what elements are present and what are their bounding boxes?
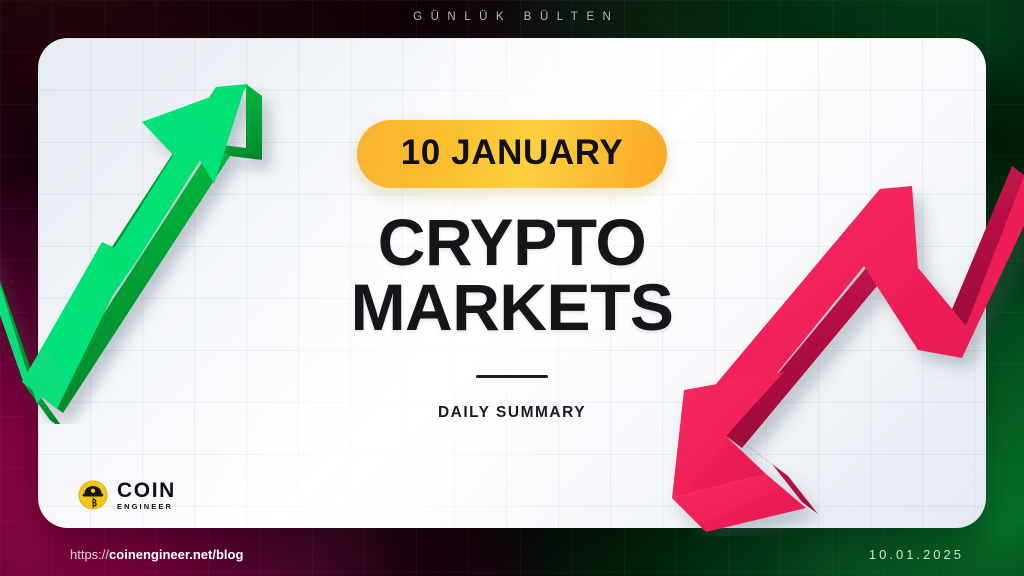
- brand-name-primary: COIN: [117, 480, 176, 501]
- coin-engineer-badge-icon: [78, 480, 108, 510]
- brand-wordmark: COIN ENGINEER: [117, 480, 176, 511]
- red-down-trend-arrow-icon: [666, 146, 1024, 536]
- daily-bulletin-poster: GÜNLÜK BÜLTEN: [0, 0, 1024, 576]
- url-scheme: https://: [70, 547, 109, 562]
- eyebrow-label: GÜNLÜK BÜLTEN: [0, 11, 1024, 23]
- green-up-trend-arrow-icon: [0, 64, 292, 424]
- footer-website-url[interactable]: https://coinengineer.net/blog: [70, 547, 243, 562]
- brand-name-secondary: ENGINEER: [117, 503, 176, 511]
- url-host: coinengineer.net/blog: [109, 547, 243, 562]
- footer-date: 10.01.2025: [869, 547, 964, 562]
- brand-logo: COIN ENGINEER: [78, 480, 176, 511]
